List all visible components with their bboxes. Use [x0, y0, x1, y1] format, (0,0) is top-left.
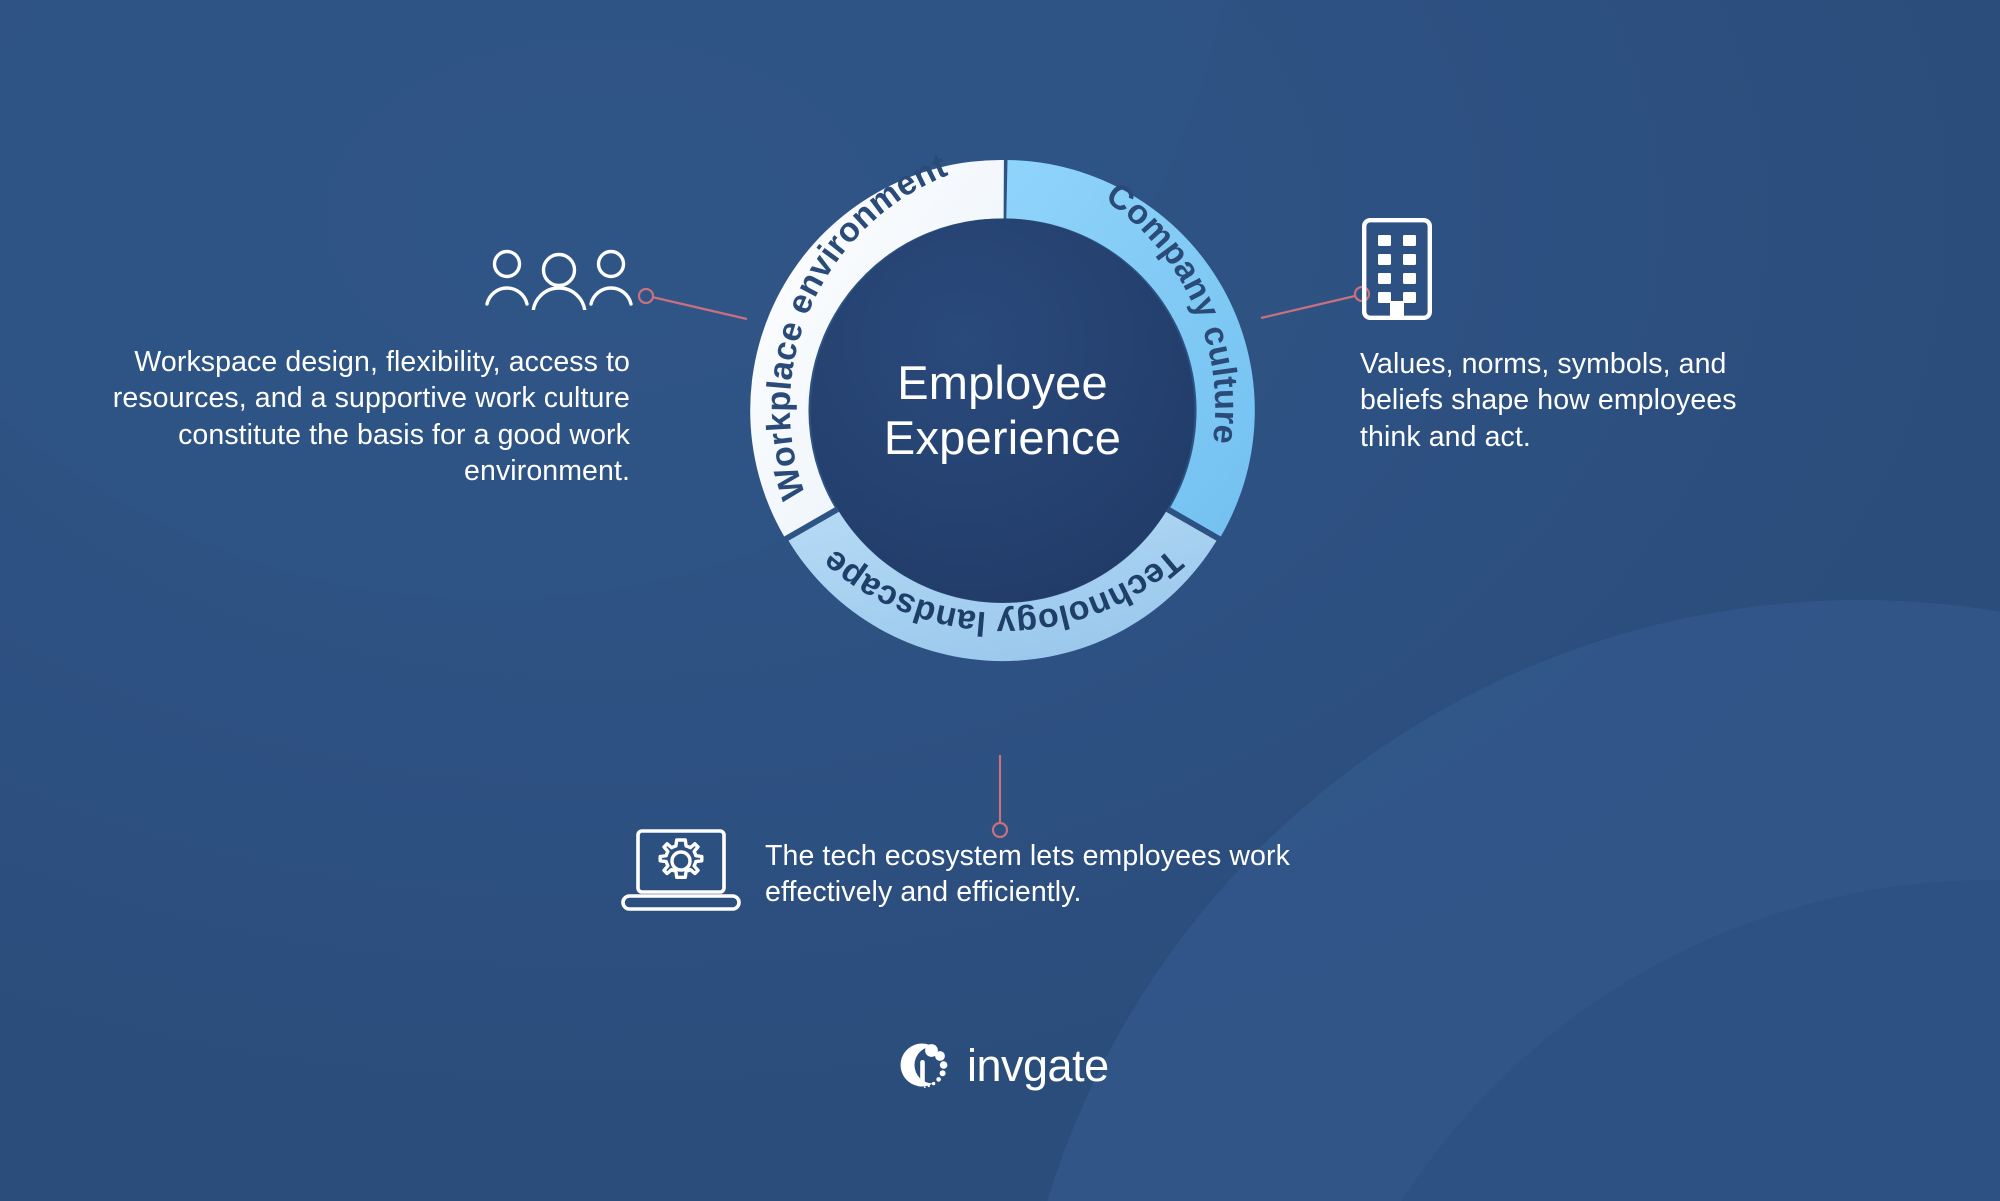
infographic-canvas: Workplace environment Company culture Te… [0, 0, 2000, 1201]
note-workplace-environment: Workspace design, flexibility, access to… [100, 344, 630, 490]
invgate-logo-mark [893, 1036, 951, 1094]
note-technology-landscape: The tech ecosystem lets employees work e… [765, 838, 1405, 911]
building-icon [1362, 218, 1432, 325]
invgate-logo[interactable]: invgate [893, 1036, 1109, 1094]
donut-center-circle [811, 219, 1195, 603]
note-company-culture: Values, norms, symbols, and beliefs shap… [1360, 346, 1780, 455]
donut-chart: Workplace environment Company culture Te… [700, 108, 1305, 713]
people-icon [483, 248, 635, 315]
invgate-logo-wordmark: invgate [967, 1043, 1109, 1088]
laptop-gear-icon [620, 826, 742, 919]
donut-chart-svg: Workplace environment Company culture Te… [700, 108, 1305, 713]
